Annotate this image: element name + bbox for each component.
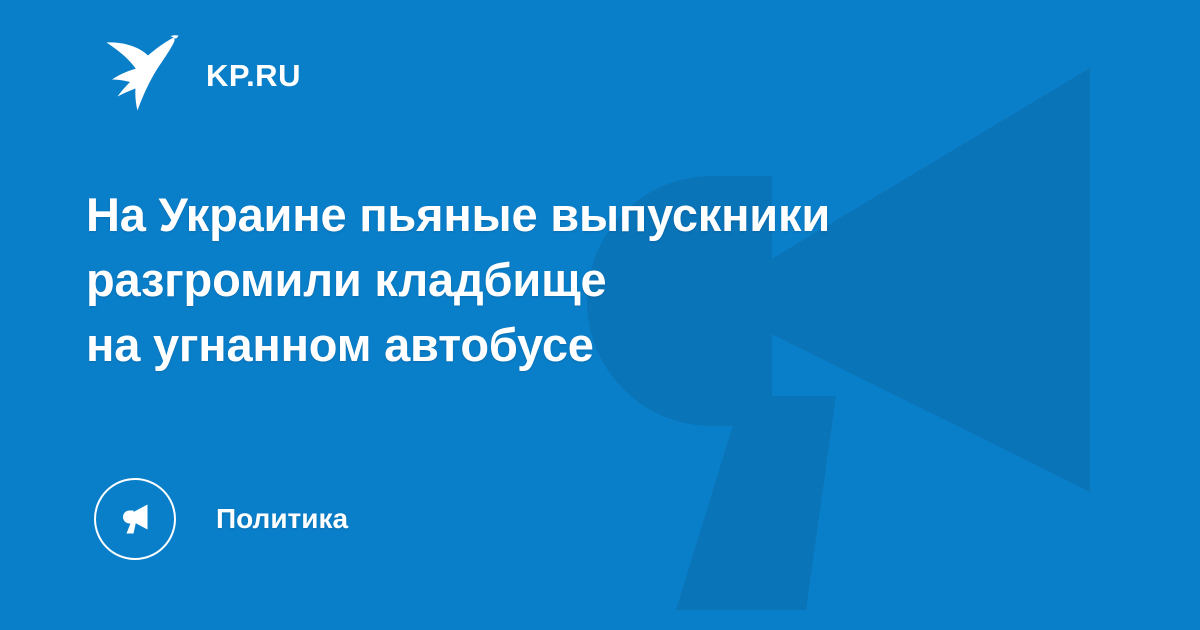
headline: На Украине пьяные выпускники разгромили …: [86, 182, 1046, 377]
headline-line-3: на угнанном автобусе: [86, 312, 1046, 377]
category-icon-circle: [94, 478, 176, 560]
headline-line-2: разгромили кладбище: [86, 247, 1046, 312]
brand-name: KP.RU: [206, 60, 301, 91]
megaphone-icon: [115, 499, 155, 539]
category-badge[interactable]: Политика: [94, 478, 348, 560]
brand-header: KP.RU: [104, 34, 301, 112]
swallow-bird-icon: [104, 34, 180, 112]
headline-line-1: На Украине пьяные выпускники: [86, 182, 1046, 247]
category-label: Политика: [216, 505, 348, 533]
social-share-card: KP.RU На Украине пьяные выпускники разгр…: [0, 0, 1200, 630]
